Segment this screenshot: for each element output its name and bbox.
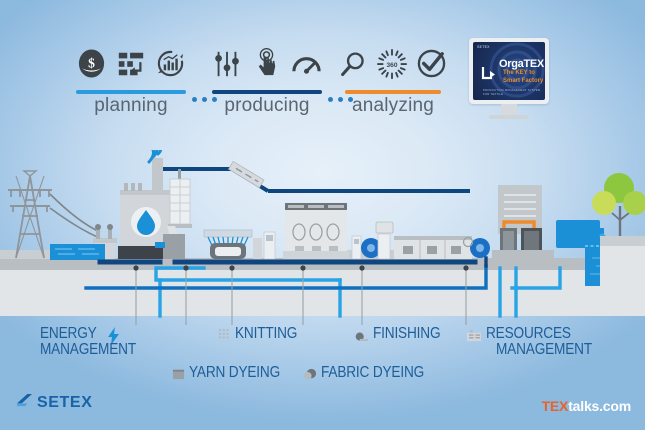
monitor-footnote: PRODUCTION MANAGEMENT SYSTEM FOR TEXTILE xyxy=(483,88,545,96)
energy-management-line2: MANAGEMENT xyxy=(40,342,136,358)
svg-text:360: 360 xyxy=(387,62,398,69)
phase-group-analyzing[interactable]: 360 analyzing xyxy=(345,44,441,117)
setex-wordmark: SETEX xyxy=(37,394,92,412)
setex-mark-icon xyxy=(16,393,33,413)
analyzing-icons: 360 xyxy=(345,44,441,84)
process-labels: ENERGY MANAGEMENT YARN DYEING KNITTING xyxy=(0,318,645,388)
conveyor-ramp xyxy=(229,161,264,187)
data-burst-icon: 360 xyxy=(377,49,407,84)
yarn-dyeing-text: YARN DYEING xyxy=(189,365,280,381)
water-basin xyxy=(50,244,105,260)
monitor-base xyxy=(489,115,529,119)
label-yarn-dyeing[interactable]: YARN DYEING xyxy=(172,365,292,385)
planning-underline xyxy=(76,90,186,94)
check-circle-icon xyxy=(416,48,447,84)
touch-hand-icon xyxy=(251,48,282,84)
svg-text:$: $ xyxy=(88,55,95,70)
textalks-logo[interactable]: TEXtalks.com xyxy=(542,398,631,414)
factory-scene xyxy=(0,150,645,320)
key-arrow-icon xyxy=(481,66,497,85)
producing-icons xyxy=(212,44,322,84)
yarn-package-icon xyxy=(172,367,185,385)
magnifier-icon xyxy=(339,50,368,84)
fabric-dyeing-text: FABRIC DYEING xyxy=(321,365,424,381)
cycle-chart-icon xyxy=(155,48,186,84)
planning-icons: $ xyxy=(76,44,186,84)
phase-label-producing: producing xyxy=(212,95,322,117)
water-drop-emblem xyxy=(131,207,161,237)
orgatex-monitor[interactable]: SETEX OrgaTEX The KEY to Smart Factory P… xyxy=(469,38,549,119)
phase-label-analyzing: analyzing xyxy=(345,95,441,117)
producing-underline xyxy=(212,90,322,94)
power-lines xyxy=(50,194,100,238)
resources-line2: MANAGEMENT xyxy=(496,342,592,358)
label-energy-management[interactable]: ENERGY MANAGEMENT xyxy=(40,326,120,358)
phase-group-producing[interactable]: producing xyxy=(212,44,322,117)
monitor-stand xyxy=(501,104,517,115)
sliders-icon xyxy=(212,49,242,84)
yarn-dyeing-machine xyxy=(155,226,275,259)
schedule-chart-icon xyxy=(116,49,146,84)
finishing-text: FINISHING xyxy=(373,326,440,342)
gauge-icon xyxy=(291,48,322,84)
resources-line1: RESOURCES xyxy=(486,326,591,342)
label-fabric-dyeing[interactable]: FABRIC DYEING xyxy=(303,365,438,386)
yarn-spray-fan xyxy=(204,230,252,259)
overhead-conveyor xyxy=(152,161,470,191)
textalks-tex: TEX xyxy=(542,398,569,414)
monitor-screen: SETEX OrgaTEX The KEY to Smart Factory P… xyxy=(473,42,545,100)
monitor-tagline-1: The KEY to xyxy=(503,70,535,76)
spinning-frame xyxy=(168,169,192,228)
monitor-title: OrgaTEX xyxy=(499,58,544,70)
knitting-text: KNITTING xyxy=(235,326,297,342)
power-pylon xyxy=(8,171,52,258)
analyzing-underline xyxy=(345,90,441,94)
label-finishing[interactable]: FINISHING xyxy=(355,326,450,348)
setex-logo[interactable]: SETEX xyxy=(16,393,92,413)
energy-management-line1: ENERGY xyxy=(40,326,136,342)
fabric-roll-icon xyxy=(303,368,317,386)
resources-icon xyxy=(466,329,482,347)
textalks-suffix: talks.com xyxy=(568,398,631,414)
underground-block xyxy=(0,270,645,316)
knit-grid-icon xyxy=(218,328,231,346)
label-resources-management[interactable]: RESOURCES MANAGEMENT xyxy=(466,326,605,358)
phase-label-planning: planning xyxy=(76,95,186,117)
phase-group-planning[interactable]: $ xyxy=(76,44,186,117)
infographic-canvas: $ xyxy=(0,0,645,430)
finishing-roller-icon xyxy=(355,330,369,348)
coin-dollar-icon: $ xyxy=(76,48,107,84)
resources-building xyxy=(492,185,554,259)
monitor-brand-logo: SETEX xyxy=(477,45,490,49)
monitor-frame: SETEX OrgaTEX The KEY to Smart Factory P… xyxy=(469,38,549,104)
monitor-tagline-2: Smart Factory xyxy=(503,78,543,84)
control-panel xyxy=(376,222,393,233)
label-knitting[interactable]: KNITTING xyxy=(218,326,306,346)
finishing-line xyxy=(361,222,490,259)
